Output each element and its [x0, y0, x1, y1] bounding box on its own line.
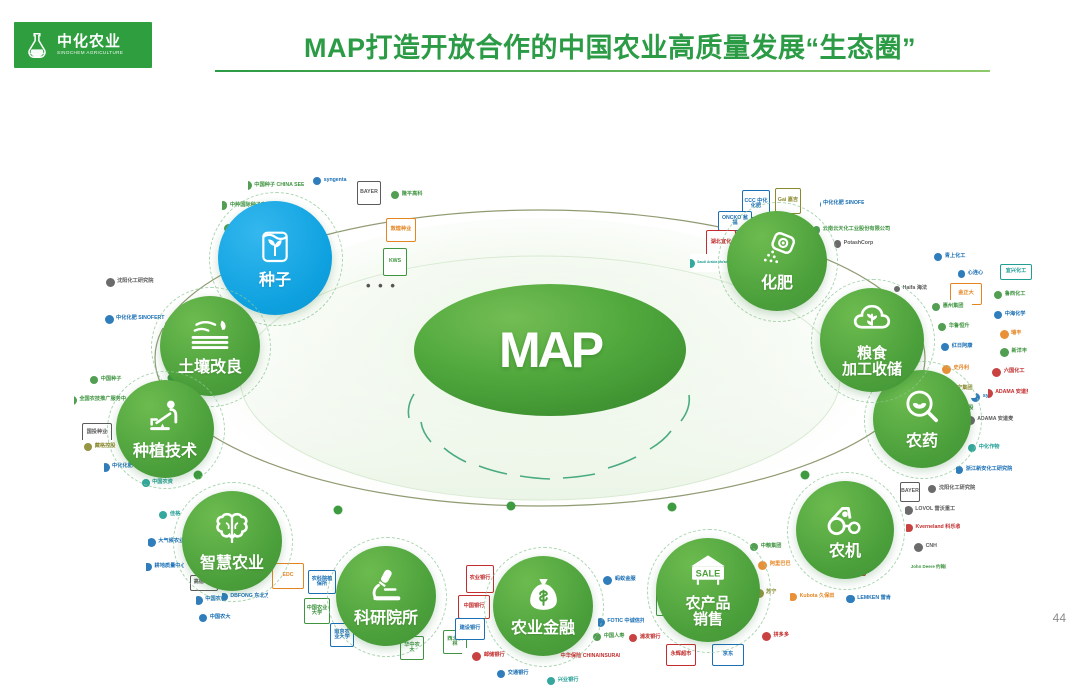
partner-logo-label: 中国人寿: [603, 634, 626, 639]
brand-name-en: SINOCHEM AGRICULTURE: [57, 51, 123, 56]
hub-node-planting[interactable]: 种植技术: [116, 380, 214, 478]
partner-logo-mark: [958, 270, 965, 277]
ecosystem-diagram: MAP • • • 中国种子 CHINA SEEDsyngentaBAYER隆平…: [0, 78, 1080, 618]
flask-icon: [22, 30, 52, 60]
hub-node-research[interactable]: 科研院所: [336, 546, 436, 646]
partner-logo-mark: [790, 593, 797, 602]
partner-logo: 中化化肥 SINOFERT: [820, 196, 864, 212]
grain-cloud-icon: [850, 302, 894, 344]
partner-logo: LOVOL 雷沃重工: [905, 502, 955, 518]
partner-logo-mark: [941, 343, 950, 352]
seed-packet-icon: [255, 226, 295, 271]
partner-logo-label: 瑞丰: [1010, 331, 1022, 336]
partner-logo-label: LEMKEN 雷肯: [856, 596, 892, 601]
partner-logo: 拼多多: [758, 626, 794, 646]
hub-node-label: 农药: [906, 434, 938, 451]
partner-logo-label: 云南云天化工业股份有限公司: [822, 227, 891, 232]
hub-node-label: 粮食 加工收储: [842, 346, 902, 378]
partner-logo-label: FOTIC 中诚信托: [606, 619, 644, 624]
partner-logo: 宜兴化工: [1000, 264, 1032, 280]
partner-logo-mark: [196, 596, 203, 605]
partner-logo-mark: [222, 201, 227, 209]
partner-logo: 中海化学: [992, 308, 1028, 322]
partner-logo-label: 兴业银行: [557, 678, 580, 683]
partner-logo-label: 中海化学: [1004, 312, 1027, 317]
partner-logo-mark: [248, 181, 252, 190]
partner-logo: BAYER: [900, 482, 920, 502]
ellipsis-marker: • • •: [366, 278, 397, 293]
title-underline: [215, 70, 990, 72]
partner-logo-mark: [199, 614, 208, 623]
partner-logo-mark: [846, 595, 855, 604]
magnifier-leaf-icon: [902, 387, 942, 432]
hub-node-finance[interactable]: 农业金融: [493, 556, 593, 656]
hub-node-label: 农产品 销售: [685, 596, 730, 628]
partner-logo-mark: [629, 634, 638, 643]
partner-logo-mark: [905, 506, 913, 515]
partner-logo: 惠州集团: [924, 300, 972, 314]
partner-logo-label: ADAMA 安道麦: [994, 390, 1028, 395]
partner-logo: Kubota 久保田: [790, 590, 834, 604]
brain-icon: [211, 509, 253, 554]
partner-logo: 华鲁恒升: [930, 320, 978, 334]
partner-logo-mark: [313, 177, 322, 186]
hub-node-label: 智慧农业: [200, 556, 264, 573]
partner-logo-mark: [932, 303, 941, 312]
partner-logo-mark: [104, 463, 110, 472]
partner-logo: BAYER: [357, 181, 381, 205]
partner-logo-mark: [472, 652, 481, 661]
partner-logo: syngenta: [306, 174, 354, 188]
partner-logo: 六国化工: [992, 364, 1026, 380]
page-title: MAP打造开放合作的中国农业高质量发展“生态圈”: [215, 22, 1005, 68]
partner-logo-mark: [547, 677, 556, 686]
partner-logo-label: 红日阿康: [951, 344, 974, 349]
tractor-icon: [823, 500, 867, 542]
partner-logo-label: PotashCorp: [843, 241, 874, 246]
hub-node-smartag[interactable]: 智慧农业: [182, 491, 282, 591]
hub-node-fertilizer[interactable]: 化肥: [727, 211, 827, 311]
slide-root: 中化农业 SINOCHEM AGRICULTURE MAP打造开放合作的中国农业…: [0, 0, 1080, 651]
partner-logo-label: 浦发银行: [639, 635, 662, 640]
partner-logo-label: 敦煌种业: [390, 227, 413, 232]
partner-logo-mark: [146, 563, 152, 572]
fertilizer-bag-icon: [757, 230, 798, 274]
partner-logo-label: 蚂蚁金服: [614, 577, 637, 582]
partner-logo: Kverneland 科乐收: [906, 521, 960, 535]
partner-logo: 沈阳化工研究院: [95, 274, 165, 290]
partner-logo: 心连心: [952, 268, 990, 280]
partner-logo-label: 青上化工: [944, 254, 967, 259]
partner-logo: 鲁西化工: [990, 288, 1030, 302]
partner-logo-mark: [690, 259, 695, 268]
partner-logo-mark: [148, 538, 156, 547]
partner-logo-mark: [497, 670, 506, 679]
partner-logo-mark: [928, 485, 937, 494]
partner-logo: 新洋丰: [996, 344, 1032, 360]
farmer-hoe-icon: [145, 397, 185, 442]
partner-logo: CNH: [908, 539, 944, 555]
partner-logo: 中国种子: [82, 373, 130, 387]
partner-logo-label: Kverneland 科乐收: [914, 525, 960, 530]
partner-logo-mark: [994, 291, 1003, 300]
partner-logo-label: syngenta: [323, 178, 348, 183]
partner-logo: John Deere 约翰迪尔: [908, 558, 946, 576]
partner-logo-label: 浙江新安化工研究院: [965, 467, 1012, 472]
partner-logo-label: 邮储银行: [483, 653, 506, 658]
partner-logo-mark: [105, 315, 114, 324]
partner-logo-label: 永辉超市: [670, 652, 693, 657]
hub-node-sales[interactable]: SALE农产品 销售: [656, 538, 760, 642]
partner-logo-mark: [106, 278, 115, 287]
partner-logo: 沈阳化工研究院: [924, 482, 980, 496]
partner-logo-mark: [1000, 330, 1009, 339]
partner-logo-mark: [74, 396, 77, 405]
partner-logo-label: 新洋丰: [1010, 349, 1028, 354]
partner-logo-label: BAYER: [359, 190, 379, 195]
brand-logo: 中化农业 SINOCHEM AGRICULTURE: [14, 22, 152, 68]
hub-node-label: 化肥: [761, 276, 793, 293]
svg-text:SALE: SALE: [696, 569, 721, 579]
hub-node-label: 种子: [259, 273, 291, 290]
page-number: 44: [1053, 611, 1066, 625]
partner-logo: 红日阿康: [938, 340, 976, 354]
partner-logo: 隆平高科: [385, 188, 429, 202]
partner-logo-mark: [934, 253, 943, 262]
partner-logo: 浙江新安化工研究院: [956, 463, 1012, 477]
partner-logo: ADAMA 安道麦: [988, 384, 1028, 402]
partner-logo-label: 京东: [722, 652, 734, 657]
sale-sign-icon: SALE: [686, 552, 730, 594]
hub-node-label: 种植技术: [133, 444, 197, 461]
partner-logo-label: 交通银行: [507, 671, 530, 676]
hub-node-label: 科研院所: [354, 611, 418, 628]
partner-logo: 建设银行: [455, 618, 485, 640]
partner-logo-label: 隆平高科: [401, 192, 424, 197]
partner-logo: 蚂蚁金服: [600, 568, 640, 592]
partner-logo-mark: [820, 200, 821, 209]
partner-logo-label: 金正大: [957, 291, 975, 296]
partner-logo: 中国农业大学: [304, 598, 330, 624]
partner-logo-label: Kubota 久保田: [799, 594, 834, 599]
partner-logo-label: 沈阳化工研究院: [116, 279, 154, 284]
partner-logo: 交通银行: [486, 667, 540, 681]
partner-logo-label: 拼多多: [772, 633, 790, 638]
partner-logo: 兴业银行: [540, 674, 586, 688]
partner-logo-label: 中国种子 CHINA SEED: [253, 183, 304, 188]
partner-logo: 青上化工: [930, 250, 970, 264]
partner-logo-label: 建设银行: [459, 626, 482, 631]
partner-logo-label: 农业银行: [469, 576, 492, 581]
partner-logo: 浦发银行: [628, 631, 662, 645]
partner-logo-label: 沈阳化工研究院: [938, 486, 976, 491]
partner-logo-label: KWS: [388, 259, 402, 264]
partner-logo-mark: [938, 323, 947, 332]
partner-logo-label: 惠州集团: [942, 304, 965, 309]
soil-layers-icon: [188, 315, 232, 358]
partner-logo-label: CNH: [925, 544, 938, 549]
partner-logo-label: 国投种业: [86, 430, 109, 435]
partner-logo: 敦煌种业: [386, 218, 416, 242]
partner-logo-label: 中化作物: [978, 445, 1001, 450]
partner-logo-label: 宜兴化工: [1005, 269, 1028, 274]
partner-logo: FOTIC 中诚信托: [598, 614, 644, 630]
partner-logo-mark: [603, 576, 612, 585]
partner-logo-mark: [90, 376, 99, 385]
money-bag-icon: [524, 574, 563, 619]
partner-logo-label: BAYER: [900, 489, 920, 494]
partner-logo: KWS: [383, 248, 407, 276]
partner-logo-label: John Deere 约翰迪尔: [910, 565, 946, 570]
partner-logo-mark: [159, 511, 168, 520]
partner-logo: LEMKEN 雷肯: [846, 592, 892, 606]
partner-logo: 中国农大: [196, 611, 234, 625]
partner-logo-mark: [988, 389, 993, 398]
partner-logo-label: 中化化肥 SINOFERT: [822, 201, 864, 206]
partner-logo-mark: [994, 311, 1003, 320]
hub-node-label: 农业金融: [511, 621, 575, 638]
partner-logo-mark: [906, 524, 913, 533]
hub-node-machinery[interactable]: 农机: [796, 481, 894, 579]
center-label: MAP: [414, 318, 686, 382]
partner-logo-label: 中粮集团: [760, 544, 783, 549]
partner-logo: 中国种子 CHINA SEED: [248, 178, 304, 193]
brand-name-cn: 中化农业: [57, 34, 123, 49]
partner-logo-label: 华鲁恒升: [948, 324, 971, 329]
hub-node-grain[interactable]: 粮食 加工收储: [820, 288, 924, 392]
partner-logo-label: 中国农业大学: [305, 606, 329, 617]
microscope-icon: [365, 565, 407, 609]
partner-logo-mark: [391, 191, 400, 200]
partner-logo-label: 中国银行: [463, 604, 486, 609]
partner-logo-label: 心连心: [967, 271, 985, 276]
partner-logo-label: 六国化工: [1003, 369, 1026, 374]
partner-logo-mark: [1000, 348, 1009, 357]
partner-logo-label: 鲁西化工: [1004, 292, 1027, 297]
partner-logo: 瑞丰: [994, 326, 1028, 342]
hub-node-label: 农机: [829, 544, 861, 561]
partner-logo-label: 中国种子: [100, 377, 123, 382]
partner-logo-mark: [84, 443, 93, 452]
partner-logo-mark: [992, 368, 1001, 377]
partner-logo-label: 阿里巴巴: [769, 562, 792, 567]
partner-logo-mark: [762, 632, 771, 641]
partner-logo-label: 中国农大: [209, 615, 232, 620]
partner-logo-mark: [914, 543, 923, 552]
partner-logo-label: LOVOL 雷沃重工: [914, 507, 955, 512]
